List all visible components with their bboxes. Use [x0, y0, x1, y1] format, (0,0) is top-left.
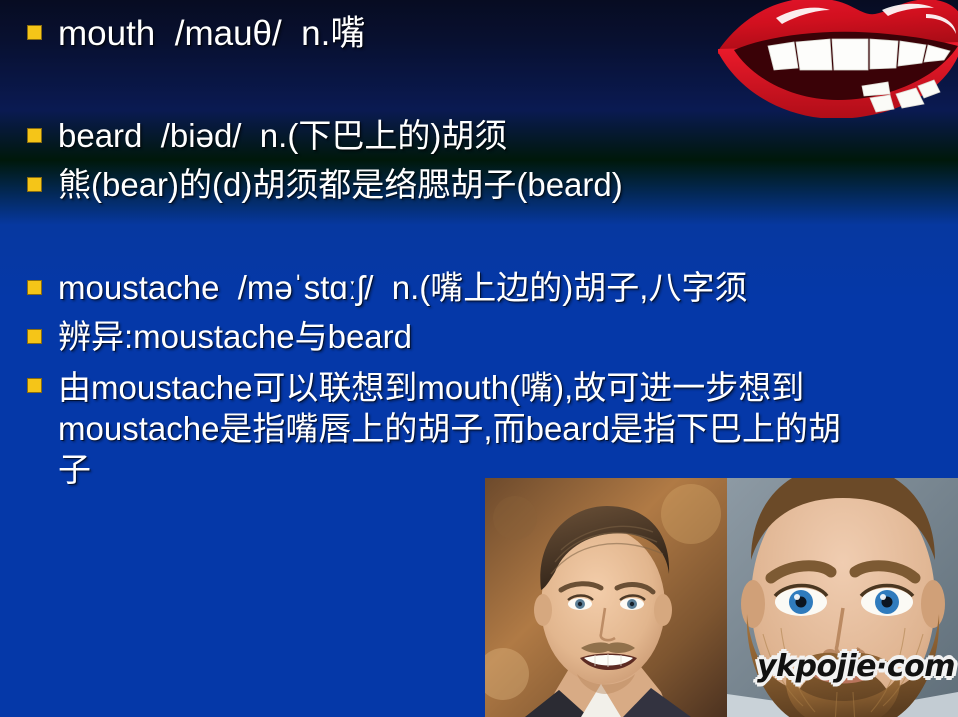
red-lips-icon	[712, 0, 958, 118]
bullet-square-icon	[27, 128, 42, 143]
bullet-square-icon	[27, 378, 42, 393]
list-item-text: mouth /mauθ/ n.嘴	[58, 14, 365, 53]
list-item-distinguish: 辨异:moustache与beard	[27, 318, 412, 355]
list-item-bear-mnemonic: 熊(bear)的(d)胡须都是络腮胡子(beard)	[27, 166, 623, 203]
list-item-moustache: moustache /məˈstɑːʃ/ n.(嘴上边的)胡子,八字须	[27, 269, 747, 306]
bullet-square-icon	[27, 25, 42, 40]
site-watermark: ykpojie·com	[757, 649, 955, 684]
list-item-beard: beard /biəd/ n.(下巴上的)胡须	[27, 117, 507, 154]
bullet-square-icon	[27, 177, 42, 192]
list-item-text: 由moustache可以联想到mouth(嘴),故可进一步想到moustache…	[58, 367, 857, 490]
list-item-text: beard /biəd/ n.(下巴上的)胡须	[58, 117, 507, 154]
slide-canvas: ykpojie·com mouth /mauθ/ n.嘴 beard /biəd…	[0, 0, 958, 717]
list-item-explanation: 由moustache可以联想到mouth(嘴),故可进一步想到moustache…	[27, 367, 857, 490]
list-item-mouth: mouth /mauθ/ n.嘴	[27, 14, 365, 53]
bullet-square-icon	[27, 280, 42, 295]
list-item-text: 熊(bear)的(d)胡须都是络腮胡子(beard)	[58, 166, 623, 203]
list-item-text: 辨异:moustache与beard	[58, 318, 412, 355]
list-item-text: moustache /məˈstɑːʃ/ n.(嘴上边的)胡子,八字须	[58, 269, 747, 306]
bullet-square-icon	[27, 329, 42, 344]
man-with-moustache-photo	[485, 478, 727, 717]
